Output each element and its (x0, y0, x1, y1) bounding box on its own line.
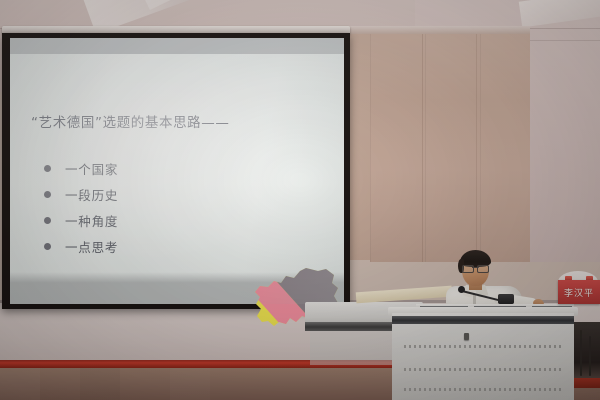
lectern-dark-band (392, 316, 574, 324)
bullet-label: 一点思考 (65, 237, 118, 256)
bullet-label: 一种角度 (65, 211, 118, 230)
lock-icon (464, 333, 469, 340)
bullet-label: 一个国家 (65, 159, 118, 178)
presenter (440, 250, 545, 312)
slide-title: “艺术德国”选题的基本思路—— (31, 111, 230, 131)
bullet-dot-icon (44, 165, 51, 172)
list-item: 一种角度 (44, 210, 118, 230)
list-item: 一段历史 (44, 184, 118, 204)
cable (580, 330, 582, 376)
placard-name-text: 李汉平 (564, 286, 594, 299)
bullet-label: 一段历史 (65, 185, 118, 204)
projection-screen-frame: “艺术德国”选题的基本思路—— 一个国家 一段历史 一种角度 一点思考 (2, 33, 350, 309)
slide-bullet-list: 一个国家 一段历史 一种角度 一点思考 (44, 158, 118, 262)
behind-lectern-shadow (574, 322, 600, 380)
lectern-vent-slots (404, 345, 564, 348)
lecture-hall-photo: “艺术德国”选题的基本思路—— 一个国家 一段历史 一种角度 一点思考 (0, 0, 600, 400)
lectern-front-panel (392, 313, 574, 400)
bullet-dot-icon (44, 217, 51, 224)
cable (589, 336, 591, 376)
wood-panel-wall (370, 30, 530, 262)
microphone-icon (458, 286, 465, 293)
list-item: 一点思考 (44, 236, 118, 256)
stage-edge-stripe-right (574, 378, 600, 388)
glasses-icon (462, 265, 489, 271)
lectern-vent-slots (404, 388, 564, 391)
bullet-dot-icon (44, 243, 51, 250)
bullet-dot-icon (44, 191, 51, 198)
list-item: 一个国家 (44, 158, 118, 178)
wood-wall-top-trim (330, 26, 530, 34)
name-placard: 李汉平 (558, 280, 600, 304)
slide-content: “艺术德国”选题的基本思路—— 一个国家 一段历史 一种角度 一点思考 (12, 54, 342, 280)
lectern-vent-slots (404, 368, 564, 371)
glasses-lens-right (477, 265, 489, 273)
